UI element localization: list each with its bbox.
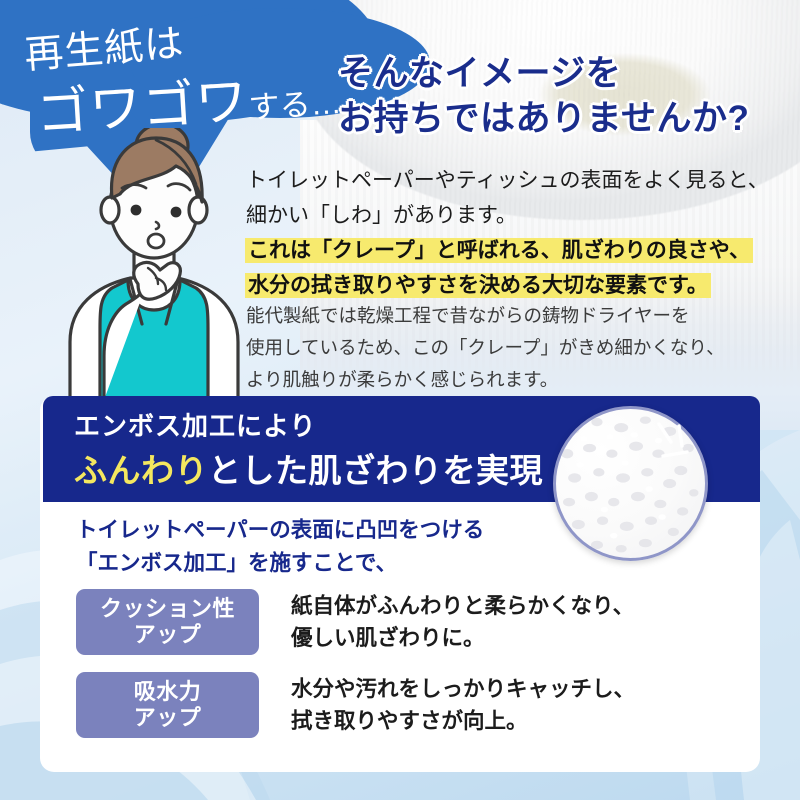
sparkle-lines-icon	[649, 420, 709, 468]
note-line-2: 使用しているため、この「クレープ」がきめ細かくなり、	[246, 332, 725, 364]
headline-line-2: お持ちではありませんか?	[338, 97, 749, 142]
note-paragraph: 能代製紙では乾燥工程で昔ながらの鋳物ドライヤーを 使用しているため、この「クレー…	[246, 300, 725, 397]
feature-cushion-description: 紙自体がふんわりと柔らかくなり、 優しい肌ざわりに。	[291, 590, 634, 655]
sub-copy-line-1: トイレットペーパーの表面に凸凹をつける	[76, 514, 484, 547]
feature-cushion-desc-line-2: 優しい肌ざわりに。	[291, 622, 634, 654]
banner-line-2-accent: ふんわり	[74, 452, 208, 489]
feature-absorbency-desc-line-2: 拭き取りやすさが向上。	[291, 705, 635, 737]
feature-absorbency-description: 水分や汚れをしっかりキャッチし、 拭き取りやすさが向上。	[291, 673, 635, 738]
badge-cushion-line-1: クッション性	[100, 596, 235, 622]
body-paragraph: トイレットペーパーやティッシュの表面をよく見ると、 細かい「しわ」があります。 …	[246, 164, 769, 303]
feature-cushion-desc-line-1: 紙自体がふんわりと柔らかくなり、	[291, 590, 634, 622]
infographic-stage: 再生紙は ゴワゴワする… そんなイメージを お持ちではありませんか? トイレット…	[0, 0, 800, 800]
tissue-closeup-wrapper	[553, 406, 708, 561]
thinking-woman-illustration	[56, 128, 266, 400]
body-line-1: トイレットペーパーやティッシュの表面をよく見ると、	[246, 164, 769, 199]
badge-absorbency-line-2: アップ	[134, 705, 202, 731]
body-line-2: 細かい「しわ」があります。	[246, 199, 769, 234]
banner-line-2: ふんわりとした肌ざわりを実現	[74, 444, 543, 492]
headline-line-1: そんなイメージを	[338, 52, 749, 97]
sub-copy-line-2: 「エンボス加工」を施すことで、	[76, 547, 484, 580]
feature-absorbency-desc-line-1: 水分や汚れをしっかりキャッチし、	[291, 673, 635, 705]
banner-line-1: エンボス加工により	[74, 406, 316, 443]
feature-row-absorbency: 吸水力 アップ 水分や汚れをしっかりキャッチし、 拭き取りやすさが向上。	[76, 672, 635, 738]
emboss-description: トイレットペーパーの表面に凸凹をつける 「エンボス加工」を施すことで、	[76, 514, 484, 579]
body-line-3-wrapper: これは「クレープ」と呼ばれる、肌ざわりの良さや、	[246, 234, 769, 269]
badge-cushion: クッション性 アップ	[76, 589, 259, 655]
body-line-4-wrapper: 水分の拭き取りやすさを決める大切な要素です。	[246, 269, 769, 304]
bubble-line-2-small: する…	[248, 85, 343, 125]
badge-absorbency-line-1: 吸水力	[134, 679, 202, 705]
feature-row-cushion: クッション性 アップ 紙自体がふんわりと柔らかくなり、 優しい肌ざわりに。	[76, 589, 634, 655]
body-line-3-highlighted: これは「クレープ」と呼ばれる、肌ざわりの良さや、	[246, 239, 752, 262]
note-line-3: より肌触りが柔らかく感じられます。	[246, 364, 725, 396]
badge-cushion-line-2: アップ	[134, 622, 202, 648]
banner-line-2-rest: とした肌ざわりを実現	[208, 452, 543, 489]
body-line-4-highlighted: 水分の拭き取りやすさを決める大切な要素です。	[246, 274, 710, 297]
bubble-line-2-main: ゴワゴワ	[35, 73, 250, 143]
page-headline: そんなイメージを お持ちではありませんか?	[338, 52, 749, 142]
badge-absorbency: 吸水力 アップ	[76, 672, 259, 738]
note-line-1: 能代製紙では乾燥工程で昔ながらの鋳物ドライヤーを	[246, 300, 725, 332]
